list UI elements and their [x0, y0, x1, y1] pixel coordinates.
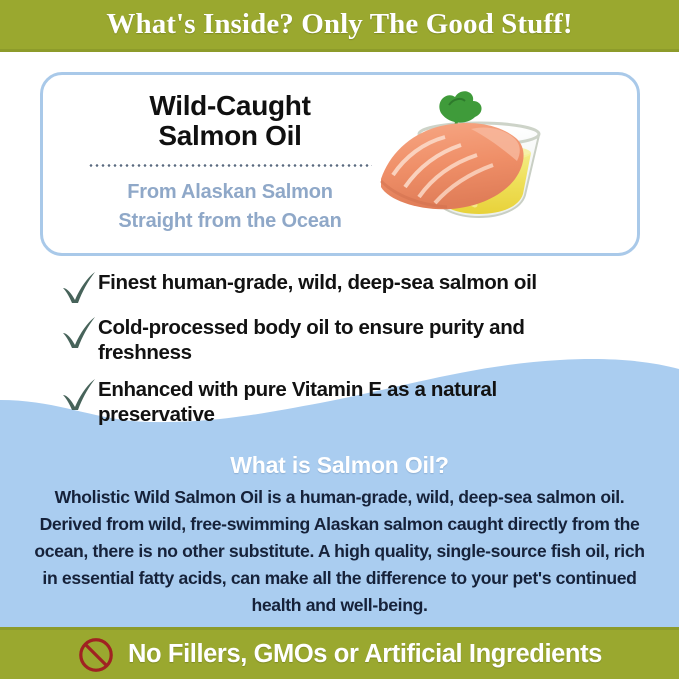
list-item-label: Cold-processed body oil to ensure purity… [98, 313, 618, 366]
header-title: What's Inside? Only The Good Stuff! [106, 8, 572, 41]
list-item: Finest human-grade, wild, deep-sea salmo… [58, 268, 658, 304]
list-item-label: Enhanced with pure Vitamin E as a natura… [98, 375, 618, 428]
product-title-line2: Salmon Oil [65, 121, 395, 151]
check-icon [58, 377, 98, 411]
product-title: Wild-Caught Salmon Oil [65, 91, 395, 151]
product-subtitle-line2: Straight from the Ocean [65, 207, 395, 235]
dotted-divider [88, 164, 372, 167]
product-subtitle-line1: From Alaskan Salmon [65, 178, 395, 206]
salmon-and-oil-image [375, 83, 637, 243]
benefits-list: Finest human-grade, wild, deep-sea salmo… [58, 268, 658, 437]
infographic-page: What's Inside? Only The Good Stuff! Wild… [0, 0, 679, 679]
product-card: Wild-Caught Salmon Oil From Alaskan Salm… [40, 72, 640, 256]
footer-title: No Fillers, GMOs or Artificial Ingredien… [128, 640, 602, 669]
list-item-label: Finest human-grade, wild, deep-sea salmo… [98, 268, 537, 295]
prohibited-icon [77, 636, 115, 674]
product-card-text: Wild-Caught Salmon Oil From Alaskan Salm… [65, 91, 395, 235]
product-subtitle: From Alaskan Salmon Straight from the Oc… [65, 178, 395, 235]
check-icon [58, 315, 98, 349]
info-body: Wholistic Wild Salmon Oil is a human-gra… [34, 484, 645, 619]
footer-banner: No Fillers, GMOs or Artificial Ingredien… [0, 627, 679, 679]
product-title-line1: Wild-Caught [65, 91, 395, 121]
header-banner: What's Inside? Only The Good Stuff! [0, 0, 679, 52]
list-item: Cold-processed body oil to ensure purity… [58, 313, 658, 366]
info-heading: What is Salmon Oil? [0, 452, 679, 479]
list-item: Enhanced with pure Vitamin E as a natura… [58, 375, 658, 428]
check-icon [58, 270, 98, 304]
